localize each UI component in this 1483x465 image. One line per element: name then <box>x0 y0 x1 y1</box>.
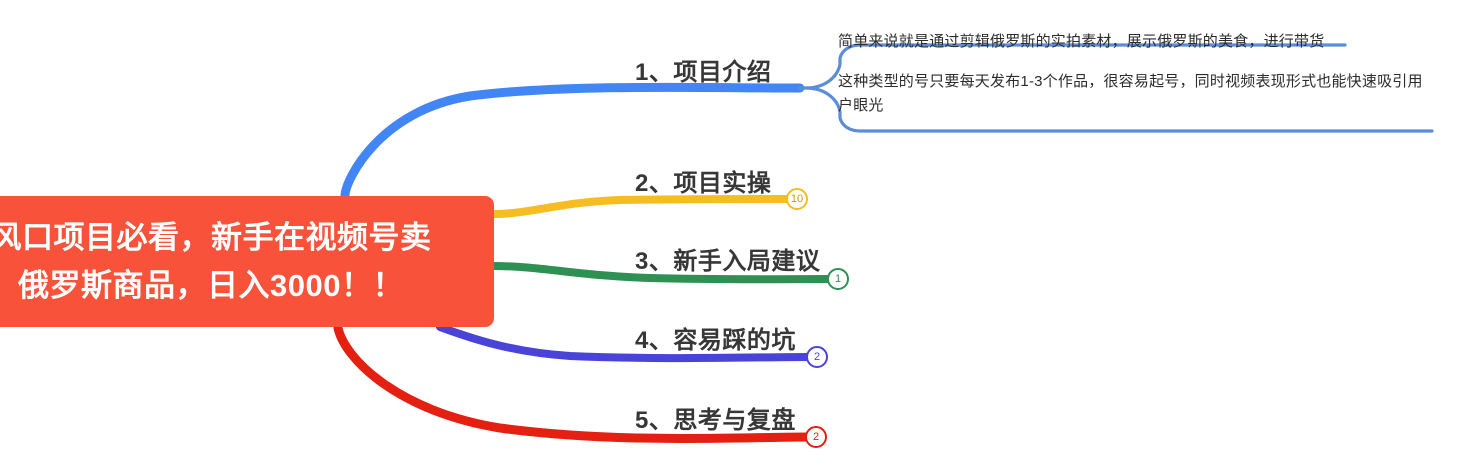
branch-label-1[interactable]: 1、项目介绍 <box>635 52 771 87</box>
branch-label-5[interactable]: 5、思考与复盘 <box>635 400 796 435</box>
branch-label-3[interactable]: 3、新手入局建议 <box>635 241 820 276</box>
central-topic-line-1: 风口项目必看，新手在视频号卖 <box>0 214 432 262</box>
subbranch-text-1-1[interactable]: 简单来说就是通过剪辑俄罗斯的实拍素材，展示俄罗斯的美食，进行带货 <box>838 30 1458 54</box>
branch-badge-2[interactable]: 10 <box>786 188 808 210</box>
subbranch-text-1-2[interactable]: 这种类型的号只要每天发布1-3个作品，很容易起号，同时视频表现形式也能快速吸引用… <box>838 70 1433 118</box>
branch-label-2[interactable]: 2、项目实操 <box>635 163 771 198</box>
mindmap-canvas: 风口项目必看，新手在视频号卖 俄罗斯商品，日入3000！！ 1、项目介绍 2、项… <box>0 0 1483 465</box>
branch-badge-3[interactable]: 1 <box>827 268 849 290</box>
central-topic-node[interactable]: 风口项目必看，新手在视频号卖 俄罗斯商品，日入3000！！ <box>0 196 494 327</box>
branch-badge-5[interactable]: 2 <box>805 426 827 448</box>
branch-label-4[interactable]: 4、容易踩的坑 <box>635 320 796 355</box>
branch-badge-4[interactable]: 2 <box>806 346 828 368</box>
central-topic-line-2: 俄罗斯商品，日入3000！！ <box>18 262 404 310</box>
